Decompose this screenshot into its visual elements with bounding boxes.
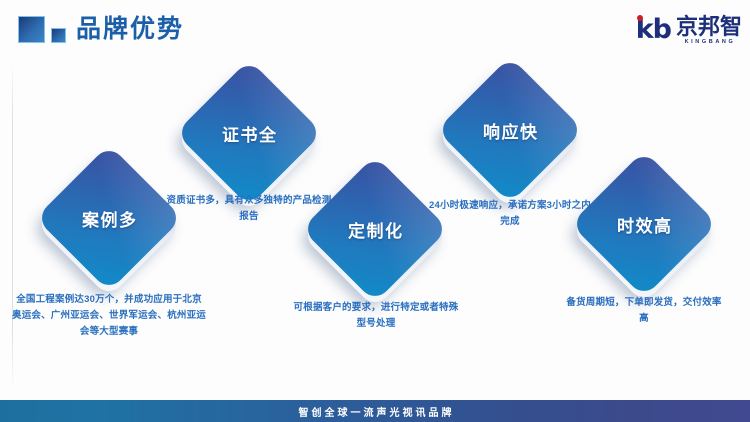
advantage-label-customization: 定制化 <box>323 177 427 281</box>
slide-footer: 智创全球一流声光视讯品牌 <box>0 400 750 422</box>
advantage-label-response: 响应快 <box>458 78 562 182</box>
header-square-large-icon <box>18 16 45 43</box>
advantage-diamond-efficiency[interactable]: 时效高 <box>592 172 696 276</box>
advantage-caption-cases: 全国工程案例达30万个，并成功应用于北京奥运会、广州亚运会、世界军运会、杭州亚运… <box>12 292 206 340</box>
logo-dot-icon <box>637 15 643 21</box>
advantage-caption-efficiency: 备货周期短，下单即发货，交付效率高 <box>563 295 725 327</box>
brand-logo: kb 京邦智 KINGBANG <box>636 13 742 47</box>
advantage-caption-response: 24小时极速响应，承诺方案3小时之内完成 <box>427 198 593 230</box>
advantage-diamond-cases[interactable]: 案例多 <box>57 166 161 270</box>
advantage-caption-certificates: 资质证书多，具有众多独特的产品检测报告 <box>166 193 332 225</box>
logo-chinese-name: 京邦智 <box>676 15 742 38</box>
logo-english-name: KINGBANG <box>685 38 736 46</box>
left-decorative-rule <box>12 60 13 390</box>
header-square-small-icon <box>51 28 66 43</box>
slide-header: 品牌优势 kb 京邦智 KINGBANG <box>0 0 750 60</box>
logo-mark-text: kb <box>636 16 671 44</box>
footer-slogan: 智创全球一流声光视讯品牌 <box>296 404 455 419</box>
slide-canvas: 品牌优势 kb 京邦智 KINGBANG 案例多 全国工程案例达30万个，并成功… <box>0 0 750 422</box>
advantage-diamond-response[interactable]: 响应快 <box>458 78 562 182</box>
advantage-diamond-customization[interactable]: 定制化 <box>323 177 427 281</box>
advantage-caption-customization: 可根据客户的要求，进行特定或者特殊型号处理 <box>292 300 460 332</box>
logo-text-block: 京邦智 KINGBANG <box>676 15 742 46</box>
advantage-label-efficiency: 时效高 <box>592 172 696 276</box>
advantage-diamond-certificates[interactable]: 证书全 <box>197 81 301 185</box>
advantage-label-cases: 案例多 <box>57 166 161 270</box>
page-title: 品牌优势 <box>76 12 184 46</box>
advantage-label-certificates: 证书全 <box>197 81 301 185</box>
